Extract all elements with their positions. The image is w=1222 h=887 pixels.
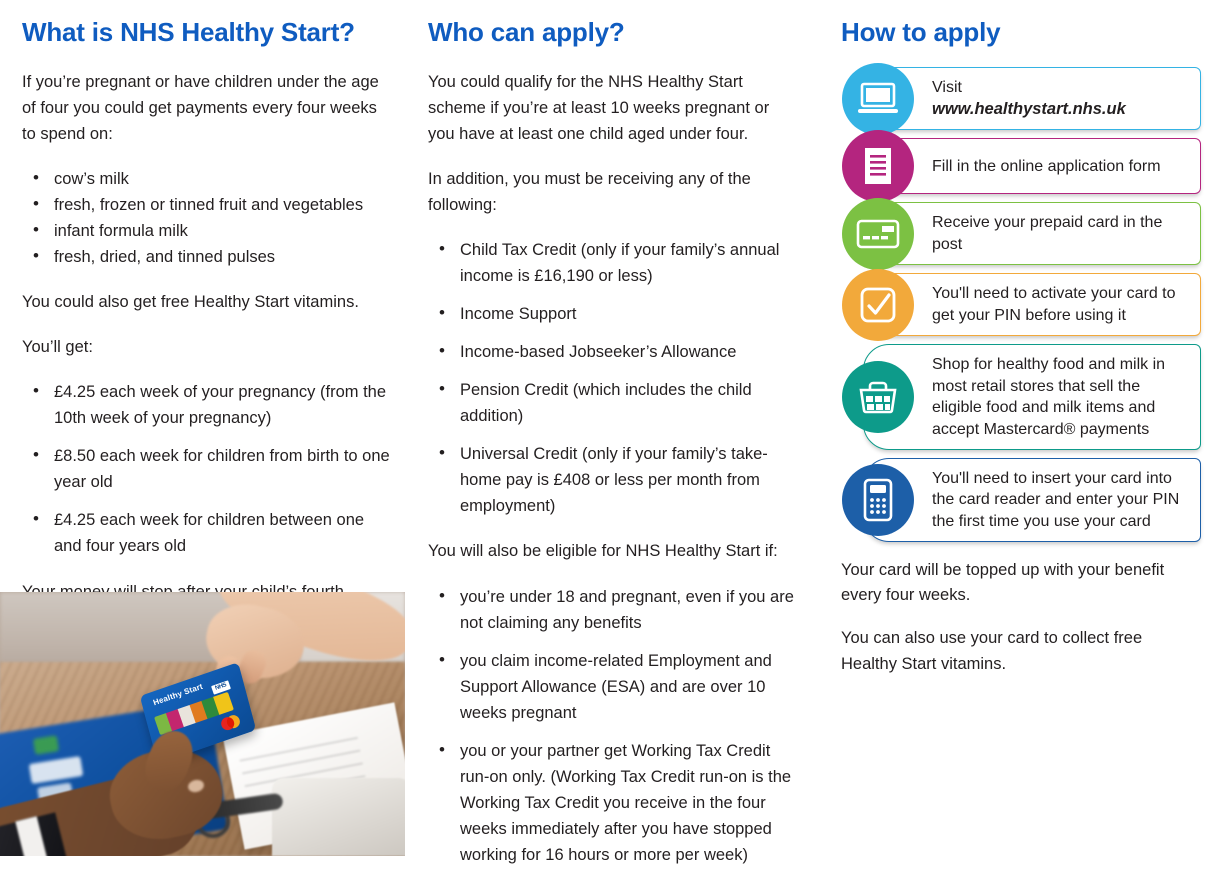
youll-get-heading: You’ll get: xyxy=(22,334,394,360)
how-to-apply-title: How to apply xyxy=(841,18,1201,47)
list-item: £4.25 each week for children between one… xyxy=(22,507,394,559)
step-card: Fill in the online application form xyxy=(863,138,1201,194)
column-who-can-apply: Who can apply? You could qualify for the… xyxy=(428,0,796,887)
list-item: £8.50 each week for children from birth … xyxy=(22,443,394,495)
step-card: You'll need to activate your card to get… xyxy=(863,273,1201,336)
healthy-start-card-photo: NHS Healthy Start xyxy=(0,592,405,856)
card-reader-icon xyxy=(842,464,914,536)
step-card-reader: You'll need to insert your card into the… xyxy=(841,458,1201,542)
leaflet-page: What is NHS Healthy Start? If you’re pre… xyxy=(0,0,1222,856)
list-item: cow’s milk xyxy=(22,166,394,192)
payment-card-icon xyxy=(842,198,914,270)
list-item: you or your partner get Working Tax Cred… xyxy=(428,738,796,868)
qualify-paragraph: You could qualify for the NHS Healthy St… xyxy=(428,69,796,147)
step-label: Fill in the online application form xyxy=(932,156,1161,177)
spend-items-list: cow’s milk fresh, frozen or tinned fruit… xyxy=(22,166,394,270)
list-item: Income-based Jobseeker’s Allowance xyxy=(428,339,796,365)
step-card: You'll need to insert your card into the… xyxy=(863,458,1201,542)
benefits-list: Child Tax Credit (only if your family’s … xyxy=(428,237,796,520)
list-item: Universal Credit (only if your family’s … xyxy=(428,441,796,519)
intro-paragraph: If you’re pregnant or have children unde… xyxy=(22,69,394,147)
step-label: Visit www.healthystart.nhs.uk xyxy=(932,77,1126,121)
how-to-apply-footer: Your card will be topped up with your be… xyxy=(841,558,1201,676)
step-label: Receive your prepaid card in the post xyxy=(932,212,1190,255)
step-card: Receive your prepaid card in the post xyxy=(863,202,1201,265)
vitamins-collect-note: You can also use your card to collect fr… xyxy=(841,626,1201,676)
addition-lead: In addition, you must be receiving any o… xyxy=(428,166,796,218)
step-label: You'll need to activate your card to get… xyxy=(932,283,1190,326)
step-card: Visit www.healthystart.nhs.uk xyxy=(863,67,1201,131)
checkbox-tick-icon xyxy=(842,269,914,341)
topup-note: Your card will be topped up with your be… xyxy=(841,558,1201,608)
column-what-is-healthy-start: What is NHS Healthy Start? If you’re pre… xyxy=(22,0,394,650)
payment-amounts-list: £4.25 each week of your pregnancy (from … xyxy=(22,379,394,559)
step-label: You'll need to insert your card into the… xyxy=(932,468,1190,532)
who-can-apply-title: Who can apply? xyxy=(428,18,796,47)
list-item: Income Support xyxy=(428,301,796,327)
list-item: fresh, frozen or tinned fruit and vegeta… xyxy=(22,192,394,218)
also-eligible-lead: You will also be eligible for NHS Health… xyxy=(428,538,796,564)
document-form-icon xyxy=(842,130,914,202)
list-item: infant formula milk xyxy=(22,218,394,244)
step-fill-form: Fill in the online application form xyxy=(841,138,1201,194)
how-to-apply-steps: Visit www.healthystart.nhs.uk xyxy=(841,67,1201,543)
step-card: Shop for healthy food and milk in most r… xyxy=(863,344,1201,450)
vitamins-note: You could also get free Healthy Start vi… xyxy=(22,289,394,315)
list-item: Child Tax Credit (only if your family’s … xyxy=(428,237,796,289)
also-eligible-list: you’re under 18 and pregnant, even if yo… xyxy=(428,584,796,869)
step-activate-card: You'll need to activate your card to get… xyxy=(841,273,1201,336)
laptop-icon xyxy=(842,63,914,135)
step-label: Shop for healthy food and milk in most r… xyxy=(932,354,1190,440)
step-visit-website: Visit www.healthystart.nhs.uk xyxy=(841,67,1201,131)
list-item: Pension Credit (which includes the child… xyxy=(428,377,796,429)
column-how-to-apply: How to apply Visit www.healthystart.nhs.… xyxy=(841,0,1201,695)
step-shop: Shop for healthy food and milk in most r… xyxy=(841,344,1201,450)
shopping-basket-icon xyxy=(842,361,914,433)
list-item: you claim income-related Employment and … xyxy=(428,648,796,726)
list-item: fresh, dried, and tinned pulses xyxy=(22,244,394,270)
healthystart-url[interactable]: www.healthystart.nhs.uk xyxy=(932,100,1126,118)
list-item: £4.25 each week of your pregnancy (from … xyxy=(22,379,394,431)
list-item: you’re under 18 and pregnant, even if yo… xyxy=(428,584,796,636)
step-receive-card: Receive your prepaid card in the post xyxy=(841,202,1201,265)
visit-prefix: Visit xyxy=(932,79,962,96)
page-title: What is NHS Healthy Start? xyxy=(22,18,394,47)
